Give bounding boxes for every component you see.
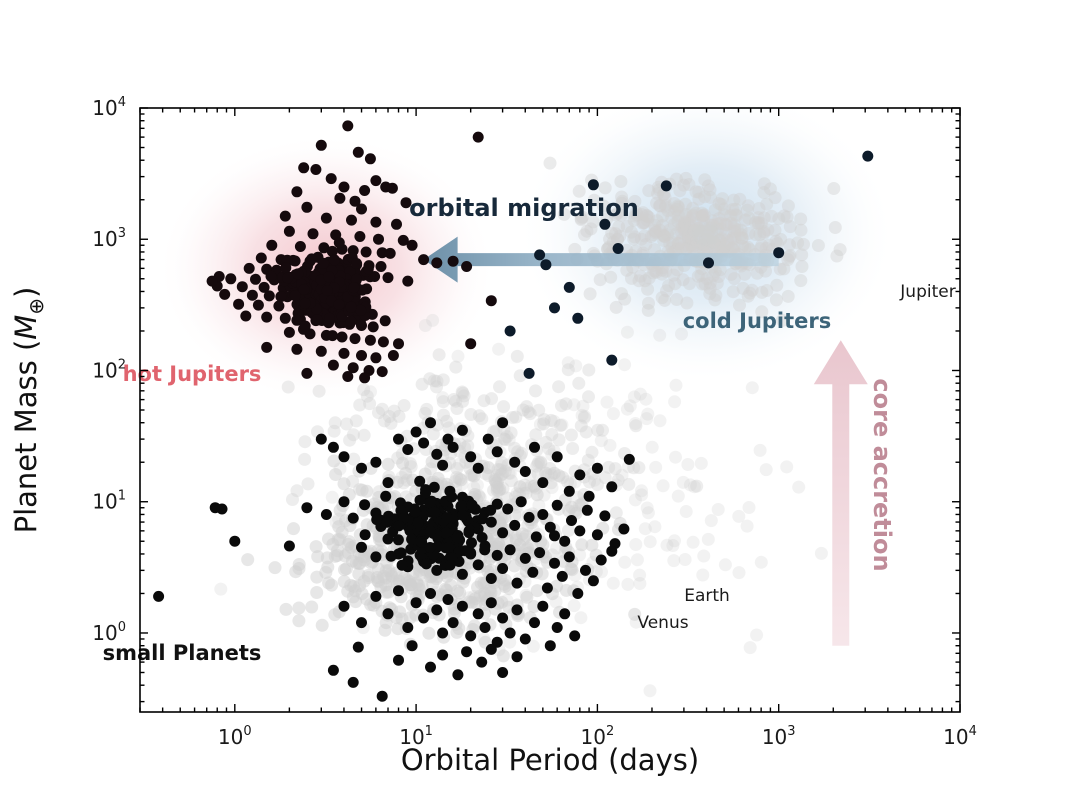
data-point — [244, 263, 255, 274]
background-point — [214, 583, 227, 596]
data-point — [387, 183, 398, 194]
background-point — [503, 433, 516, 446]
data-point — [280, 313, 291, 324]
jupiter-label: Jupiter — [899, 282, 955, 302]
background-point — [426, 314, 439, 327]
data-point — [437, 650, 448, 661]
background-point — [280, 603, 293, 616]
background-point — [715, 198, 728, 211]
y-axis-title: Planet Mass (M⊕) — [9, 287, 48, 534]
data-point — [356, 617, 367, 628]
data-point — [370, 551, 381, 562]
data-point — [273, 301, 284, 312]
data-point — [592, 463, 603, 474]
data-point — [486, 597, 497, 608]
data-point — [545, 640, 556, 651]
data-point — [385, 248, 396, 259]
background-point — [695, 457, 708, 470]
data-point — [339, 348, 350, 359]
background-point — [661, 539, 674, 552]
background-point — [641, 283, 654, 296]
background-point — [569, 569, 582, 582]
data-point — [300, 321, 311, 332]
data-point — [261, 312, 272, 323]
data-point — [457, 569, 468, 580]
background-point — [497, 400, 510, 413]
background-point — [353, 579, 366, 592]
data-point — [559, 608, 570, 619]
background-point — [760, 198, 773, 211]
background-point — [634, 388, 647, 401]
data-point — [370, 591, 381, 602]
background-point — [477, 632, 490, 645]
data-point — [280, 262, 291, 273]
background-point — [627, 233, 640, 246]
background-point — [692, 270, 705, 283]
plot-canvas: hot Jupiterscold Jupiterssmall Planetsor… — [0, 0, 1080, 810]
data-point — [380, 315, 391, 326]
background-point — [704, 277, 717, 290]
background-point — [555, 418, 568, 431]
background-point — [653, 329, 666, 342]
data-point — [275, 291, 286, 302]
data-point — [421, 558, 432, 569]
background-point — [777, 262, 790, 275]
data-point — [557, 571, 568, 582]
background-point — [269, 561, 282, 574]
data-point — [559, 536, 570, 547]
data-point — [418, 613, 429, 624]
background-point — [782, 290, 795, 303]
data-point — [323, 271, 334, 282]
data-point — [328, 442, 339, 453]
data-point — [485, 505, 496, 516]
data-point — [569, 630, 580, 641]
data-point — [463, 527, 474, 538]
data-point — [356, 542, 367, 553]
background-point — [509, 411, 522, 424]
data-point — [529, 442, 540, 453]
background-point — [687, 536, 700, 549]
data-point — [465, 338, 476, 349]
background-point — [497, 482, 510, 495]
data-point — [342, 120, 353, 131]
data-point — [477, 532, 488, 543]
background-point — [794, 274, 807, 287]
background-point — [398, 399, 411, 412]
data-point — [549, 302, 560, 313]
data-point — [393, 338, 404, 349]
data-point — [564, 551, 575, 562]
data-point — [284, 541, 295, 552]
data-point — [322, 285, 333, 296]
background-point — [727, 285, 740, 298]
data-point — [509, 520, 520, 531]
data-point — [473, 559, 484, 570]
data-point — [393, 520, 404, 531]
data-point — [465, 451, 476, 462]
background-point — [534, 457, 547, 470]
background-point — [656, 291, 669, 304]
data-point — [410, 507, 421, 518]
data-point — [588, 575, 599, 586]
background-point — [607, 577, 620, 590]
data-point — [520, 553, 531, 564]
background-point — [449, 395, 462, 408]
background-point — [511, 350, 524, 363]
data-point — [524, 368, 535, 379]
background-point — [325, 579, 338, 592]
background-point — [755, 556, 768, 569]
data-point — [328, 665, 339, 676]
background-point — [678, 216, 691, 229]
background-point — [310, 586, 323, 599]
data-point — [773, 247, 784, 258]
background-point — [669, 277, 682, 290]
background-point — [755, 286, 768, 299]
data-point — [282, 272, 293, 283]
hot-jupiters-label: hot Jupiters — [123, 362, 262, 386]
background-point — [282, 381, 295, 394]
background-point — [346, 475, 359, 488]
data-point — [425, 526, 436, 537]
data-point — [359, 185, 370, 196]
background-point — [718, 240, 731, 253]
data-point — [606, 355, 617, 366]
data-point — [552, 451, 563, 462]
background-point — [569, 359, 582, 372]
data-point — [353, 642, 364, 653]
background-point — [544, 157, 557, 170]
background-point — [299, 435, 312, 448]
data-point — [339, 496, 350, 507]
data-point — [298, 162, 309, 173]
data-point — [266, 240, 277, 251]
background-point — [562, 524, 575, 537]
data-point — [476, 657, 487, 668]
data-point — [353, 147, 364, 158]
background-point — [648, 265, 661, 278]
background-point — [679, 553, 692, 566]
background-point — [782, 199, 795, 212]
data-point — [354, 231, 365, 242]
background-point — [331, 544, 344, 557]
background-point — [780, 460, 793, 473]
background-point — [642, 506, 655, 519]
background-point — [631, 553, 644, 566]
data-point — [425, 588, 436, 599]
background-point — [705, 514, 718, 527]
background-point — [829, 221, 842, 234]
background-point — [640, 412, 653, 425]
background-point — [644, 535, 657, 548]
background-point — [405, 460, 418, 473]
data-point — [359, 499, 370, 510]
background-point — [738, 241, 751, 254]
background-point — [437, 373, 450, 386]
data-point — [584, 491, 595, 502]
background-point — [827, 182, 840, 195]
data-point — [529, 617, 540, 628]
data-point — [456, 500, 467, 511]
data-point — [318, 258, 329, 269]
background-point — [582, 364, 595, 377]
background-point — [684, 478, 697, 491]
data-point — [346, 302, 357, 313]
data-point — [351, 258, 362, 269]
data-point — [443, 594, 454, 605]
data-point — [457, 510, 468, 521]
data-point — [452, 532, 463, 543]
background-point — [330, 516, 343, 529]
data-point — [380, 491, 391, 502]
data-point — [383, 477, 394, 488]
data-point — [448, 617, 459, 628]
background-point — [618, 556, 631, 569]
data-point — [407, 640, 418, 651]
data-point — [862, 151, 873, 162]
background-point — [520, 482, 533, 495]
background-point — [291, 484, 304, 497]
background-point — [669, 451, 682, 464]
background-point — [681, 458, 694, 471]
data-point — [402, 622, 413, 633]
data-point — [386, 551, 397, 562]
data-point — [368, 321, 379, 332]
data-point — [329, 254, 340, 265]
data-point — [312, 314, 323, 325]
data-point — [365, 153, 376, 164]
background-point — [347, 590, 360, 603]
data-point — [437, 460, 448, 471]
data-point — [377, 691, 388, 702]
data-point — [295, 241, 306, 252]
svg-text:Planet Mass (M⊕): Planet Mass (M⊕) — [9, 287, 48, 534]
background-point — [792, 481, 805, 494]
background-point — [326, 491, 339, 504]
background-point — [834, 243, 847, 256]
background-point — [553, 433, 566, 446]
background-point — [675, 241, 688, 254]
data-point — [397, 560, 408, 571]
data-point — [378, 336, 389, 347]
data-point — [492, 550, 503, 561]
data-point — [381, 517, 392, 528]
data-point — [566, 515, 577, 526]
data-point — [537, 477, 548, 488]
earth-label: Earth — [684, 586, 730, 606]
background-point — [529, 384, 542, 397]
background-point — [566, 442, 579, 455]
background-point — [680, 297, 693, 310]
background-point — [582, 454, 595, 467]
data-point — [393, 655, 404, 666]
background-point — [552, 380, 565, 393]
data-point — [316, 346, 327, 357]
data-point — [661, 180, 672, 191]
data-point — [414, 476, 425, 487]
background-point — [473, 409, 486, 422]
data-point — [486, 295, 497, 306]
data-point — [377, 366, 388, 377]
data-point — [572, 313, 583, 324]
data-point — [582, 505, 593, 516]
data-point — [580, 565, 591, 576]
background-point — [305, 601, 318, 614]
data-point — [505, 628, 516, 639]
background-point — [728, 272, 741, 285]
background-point — [812, 239, 825, 252]
background-point — [353, 399, 366, 412]
svg-text:Orbital Period (days): Orbital Period (days) — [401, 743, 699, 777]
data-point — [425, 662, 436, 673]
background-point — [698, 190, 711, 203]
data-point — [301, 368, 312, 379]
venus-label: Venus — [637, 613, 688, 633]
background-point — [783, 251, 796, 264]
background-point — [298, 453, 311, 466]
background-point — [340, 418, 353, 431]
data-point — [618, 524, 629, 535]
background-point — [746, 381, 759, 394]
background-point — [329, 416, 342, 429]
background-point — [794, 213, 807, 226]
data-point — [334, 237, 345, 248]
background-point — [760, 463, 773, 476]
data-point — [342, 371, 353, 382]
data-point — [431, 449, 442, 460]
data-point — [486, 573, 497, 584]
background-point — [565, 429, 578, 442]
background-point — [436, 391, 449, 404]
data-point — [411, 427, 422, 438]
background-point — [443, 421, 456, 434]
data-point — [520, 634, 531, 645]
background-point — [332, 533, 345, 546]
data-point — [370, 217, 381, 228]
data-point — [606, 546, 617, 557]
background-point — [588, 474, 601, 487]
background-point — [358, 429, 371, 442]
data-point — [465, 630, 476, 641]
data-point — [326, 173, 337, 184]
data-point — [237, 281, 248, 292]
background-point — [791, 236, 804, 249]
data-point — [291, 344, 302, 355]
x-axis-title: Orbital Period (days) — [401, 743, 699, 777]
data-point — [497, 667, 508, 678]
data-point — [407, 240, 418, 251]
data-point — [483, 434, 494, 445]
background-point — [585, 222, 598, 235]
background-point — [735, 228, 748, 241]
data-point — [371, 514, 382, 525]
background-point — [696, 569, 709, 582]
background-point — [310, 540, 323, 553]
data-point — [253, 300, 264, 311]
background-point — [347, 453, 360, 466]
data-point — [339, 451, 350, 462]
data-point — [418, 438, 429, 449]
background-point — [500, 594, 513, 607]
data-point — [370, 352, 381, 363]
data-point — [599, 510, 610, 521]
background-point — [796, 260, 809, 273]
background-point — [649, 461, 662, 474]
background-point — [726, 203, 739, 216]
data-point — [388, 350, 399, 361]
background-point — [671, 200, 684, 213]
data-point — [420, 487, 431, 498]
background-point — [702, 533, 715, 546]
data-point — [292, 268, 303, 279]
data-point — [574, 469, 585, 480]
background-point — [633, 569, 646, 582]
data-point — [467, 500, 478, 511]
orbital-migration-label: orbital migration — [409, 194, 639, 222]
exoplanet-mass-period-figure: hot Jupiterscold Jupiterssmall Planetsor… — [0, 0, 1080, 810]
background-point — [449, 361, 462, 374]
data-point — [321, 213, 332, 224]
data-point — [592, 529, 603, 540]
data-point — [497, 417, 508, 428]
data-point — [505, 544, 516, 555]
data-point — [613, 243, 624, 254]
data-point — [327, 330, 338, 341]
data-point — [534, 249, 545, 260]
data-point — [359, 372, 370, 383]
background-point — [689, 240, 702, 253]
background-point — [624, 399, 637, 412]
background-point — [607, 407, 620, 420]
data-point — [497, 563, 508, 574]
data-point — [383, 608, 394, 619]
data-point — [527, 567, 538, 578]
background-point — [568, 599, 581, 612]
data-point — [516, 496, 527, 507]
background-point — [668, 395, 681, 408]
data-point — [266, 271, 277, 282]
background-point — [639, 522, 652, 535]
data-point — [574, 525, 585, 536]
data-point — [703, 257, 714, 268]
background-point — [657, 479, 670, 492]
data-point — [225, 273, 236, 284]
background-point — [614, 175, 627, 188]
data-point — [376, 261, 387, 272]
background-point — [618, 358, 631, 371]
data-point — [549, 530, 560, 541]
data-point — [457, 601, 468, 612]
data-point — [431, 257, 442, 268]
data-point — [564, 282, 575, 293]
data-point — [509, 457, 520, 468]
small-planets-label: small Planets — [103, 641, 262, 665]
data-point — [219, 289, 230, 300]
background-point — [758, 177, 771, 190]
data-point — [402, 276, 413, 287]
background-point — [364, 385, 377, 398]
background-point — [644, 684, 657, 697]
core-accretion-label: core accretion — [868, 378, 896, 571]
background-point — [629, 417, 642, 430]
background-point — [621, 326, 634, 339]
background-point — [712, 503, 725, 516]
background-point — [453, 458, 466, 471]
background-point — [743, 501, 756, 514]
background-point — [610, 506, 623, 519]
data-point — [301, 502, 312, 513]
